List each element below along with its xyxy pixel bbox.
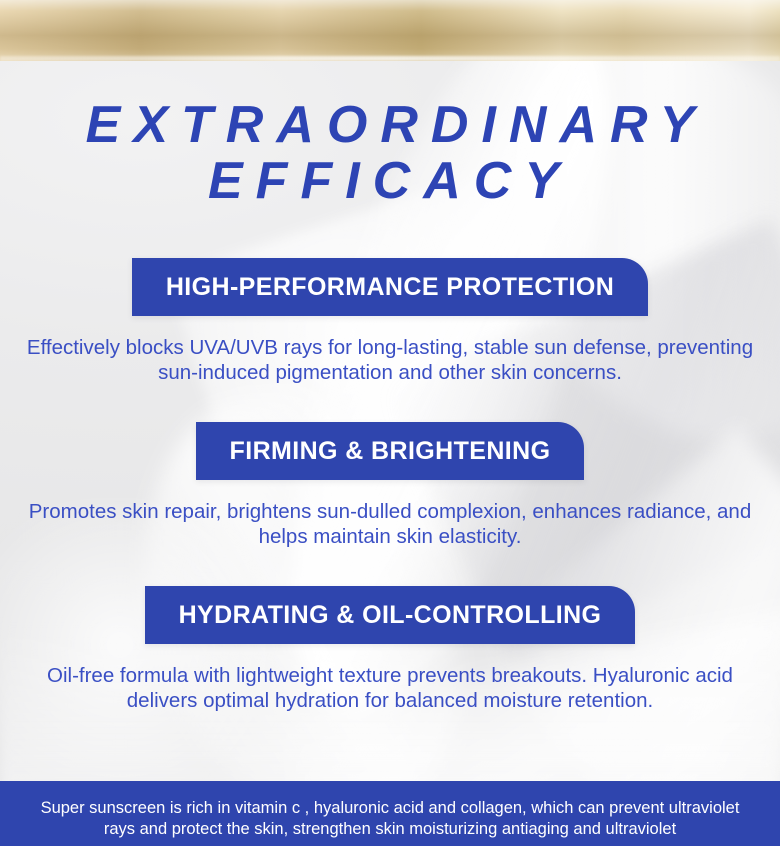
footer-banner: Super sunscreen is rich in vitamin c , h…: [0, 781, 780, 846]
product-feature-poster: EXTRAORDINARY EFFICACY HIGH-PERFORMANCE …: [0, 0, 780, 846]
feature-badge-row-1: HIGH-PERFORMANCE PROTECTION: [0, 258, 780, 316]
feature-badge-firming-brightening: FIRMING & BRIGHTENING: [196, 422, 585, 480]
footer-description: Super sunscreen is rich in vitamin c , h…: [0, 781, 780, 840]
page-title: EXTRAORDINARY EFFICACY: [0, 97, 780, 209]
feature-badge-hydrating-oil-controlling: HYDRATING & OIL-CONTROLLING: [145, 586, 636, 644]
feature-description-1: Effectively blocks UVA/UVB rays for long…: [0, 335, 780, 385]
feature-description-2: Promotes skin repair, brightens sun-dull…: [0, 499, 780, 549]
feature-badge-row-2: FIRMING & BRIGHTENING: [0, 422, 780, 480]
poster-content: EXTRAORDINARY EFFICACY HIGH-PERFORMANCE …: [0, 0, 780, 846]
feature-badge-high-performance-protection: HIGH-PERFORMANCE PROTECTION: [132, 258, 648, 316]
feature-badge-row-3: HYDRATING & OIL-CONTROLLING: [0, 586, 780, 644]
feature-description-3: Oil-free formula with lightweight textur…: [0, 663, 780, 713]
